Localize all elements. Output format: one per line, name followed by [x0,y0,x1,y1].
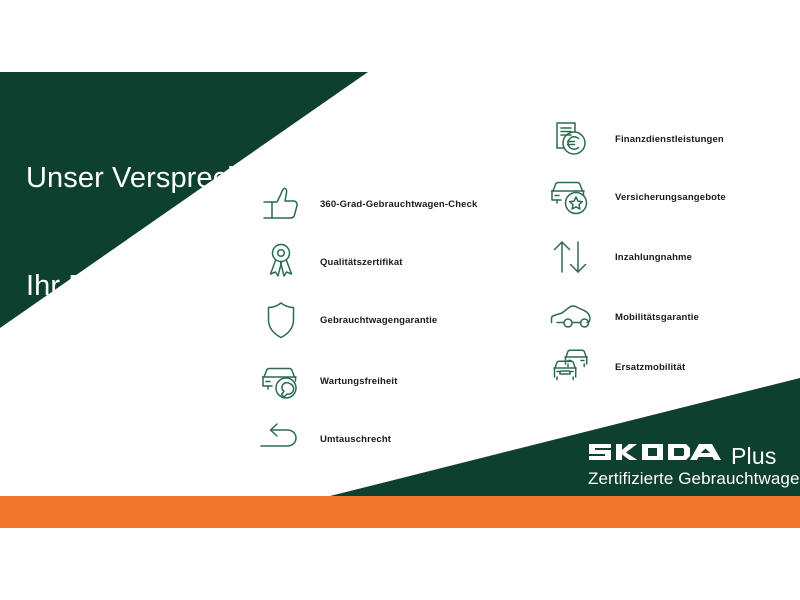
orange-accent-bar [0,496,800,528]
feature-label: Umtauschrecht [320,418,391,460]
skoda-wordmark [588,440,722,469]
feature-label: Finanzdienstleistungen [615,118,724,160]
award-rosette-icon [258,241,304,283]
feature-label: Versicherungsangebote [615,176,726,218]
two-cars-icon [548,346,594,388]
car-side-icon [548,296,594,338]
skoda-plus-banner: Unser Versprechen. Ihr Plus. 360-Grad-Ge… [0,0,800,600]
brand-logo-block: Plus Zertifizierte Gebrauchtwagen [588,440,800,489]
feature-label: 360-Grad-Gebrauchtwagen-Check [320,183,477,225]
feature-label: Gebrauchtwagengarantie [320,299,437,341]
return-arrow-icon [258,418,304,460]
document-euro-icon [548,118,594,160]
headline-line-1: Unser Versprechen. [26,160,284,196]
wordmark-row: Plus [588,440,800,466]
thumbs-up-icon [258,183,304,225]
headline: Unser Versprechen. Ihr Plus. [26,88,284,376]
logo-tagline: Zertifizierte Gebrauchtwagen [588,469,800,489]
feature-label: Inzahlungnahme [615,236,692,278]
headline-line-2: Ihr Plus. [26,268,284,304]
wordmark-plus: Plus [731,445,777,468]
feature-label: Wartungsfreiheit [320,360,398,402]
arrows-updown-icon [548,236,594,278]
feature-label: Mobilitätsgarantie [615,296,699,338]
feature-label: Qualitätszertifikat [320,241,403,283]
feature-label: Ersatzmobilität [615,346,685,388]
car-wrench-icon [258,360,304,402]
car-star-icon [548,176,594,218]
shield-icon [258,299,304,341]
